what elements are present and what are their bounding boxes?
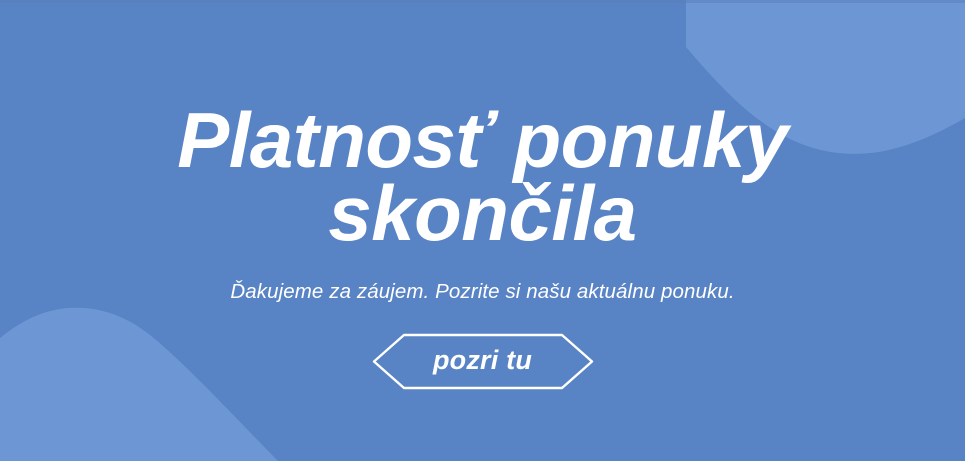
page-title: Platnosť ponuky skončila [177,104,788,249]
headline-line-2: skončila [328,169,636,257]
promo-banner: Platnosť ponuky skončila Ďakujeme za záu… [0,0,965,461]
cta-button[interactable]: pozri tu [372,333,594,390]
banner-content: Platnosť ponuky skončila Ďakujeme za záu… [0,0,965,461]
cta-button-label: pozri tu [433,347,532,376]
subtitle-text: Ďakujeme za záujem. Pozrite si našu aktu… [230,280,734,304]
